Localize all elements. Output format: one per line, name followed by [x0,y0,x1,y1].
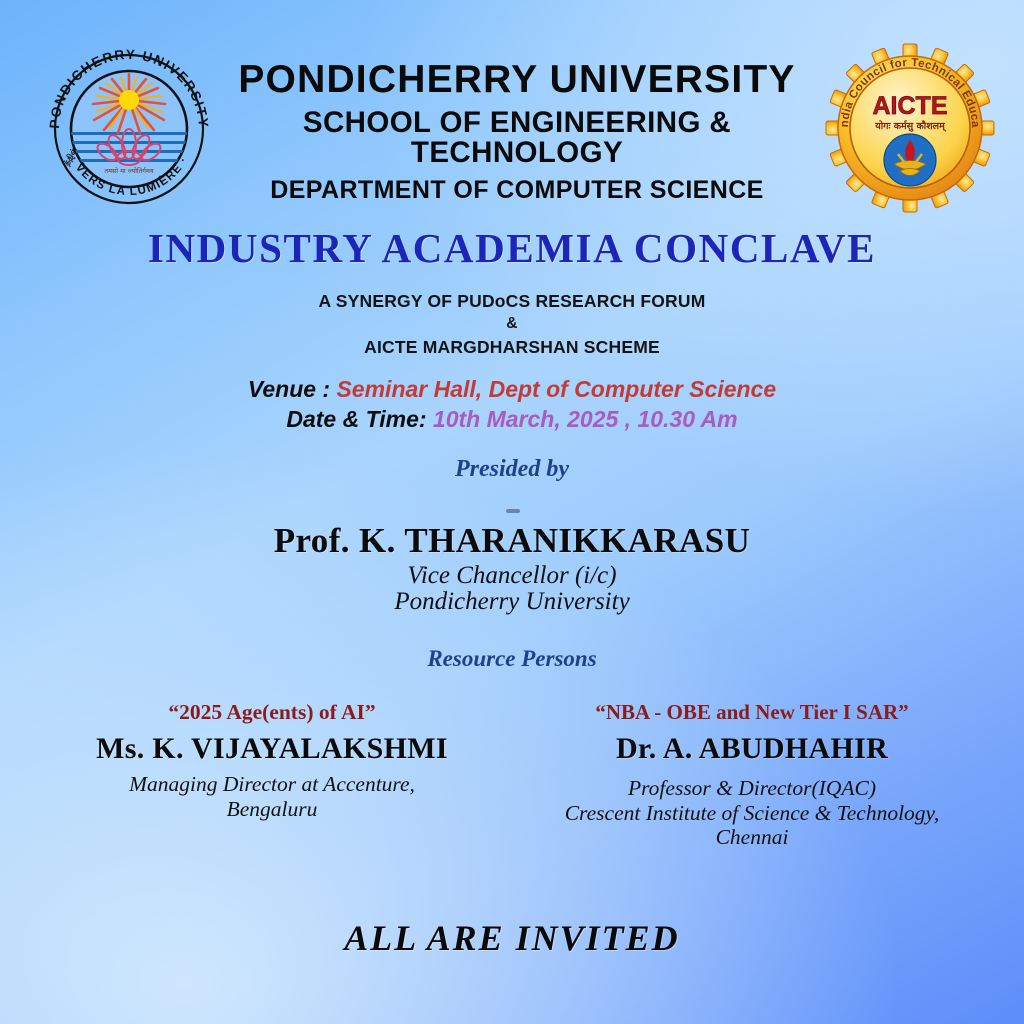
event-title: INDUSTRY ACADEMIA CONCLAVE [0,224,1024,272]
poster-header: तमसो मा ज्योतिर्गमय PONDICHERRY UNIVERSI… [0,0,1024,210]
resource-person-card: “2025 Age(ents) of AI” Ms. K. VIJAYALAKS… [32,700,512,850]
affiliation-line-3: Chennai [522,825,982,850]
talk-title: “NBA - OBE and New Tier I SAR” [522,700,982,725]
date-label: Date & Time: [286,406,433,432]
venue-label: Venue : [248,376,337,402]
affiliation-line-1: Professor & Director(IQAC) [522,776,982,801]
event-subtitle: A SYNERGY OF PUDoCS RESEARCH FORUM & AIC… [0,289,1024,359]
resource-person-affiliation: Managing Director at Accenture, Bengalur… [42,772,502,821]
presiding-officer-designation: Vice Chancellor (i/c) [0,563,1024,589]
resource-person-card: “NBA - OBE and New Tier I SAR” Dr. A. AB… [512,700,992,850]
pondicherry-university-logo: तमसो मा ज्योतिर्गमय PONDICHERRY UNIVERSI… [38,38,220,220]
presiding-officer-name: Prof. K. THARANIKKARASU [0,521,1024,561]
scan-artifact-mark [506,509,520,513]
synergy-line-1: A SYNERGY OF PUDoCS RESEARCH FORUM [0,289,1024,313]
school-name: SCHOOL OF ENGINEERING & TECHNOLOGY [210,108,824,167]
presiding-officer-affiliation: Pondicherry University [0,589,1024,615]
date-value: 10th March, 2025 , 10.30 Am [433,406,738,432]
svg-text:तमसो मा ज्योतिर्गमय: तमसो मा ज्योतिर्गमय [104,167,153,175]
resource-person-name: Dr. A. ABUDHAHIR [522,732,982,766]
department-name: DEPARTMENT OF COMPUTER SCIENCE [210,178,824,203]
presiding-officer-role: Vice Chancellor (i/c) Pondicherry Univer… [0,563,1024,616]
venue-row: Venue : Seminar Hall, Dept of Computer S… [0,374,1024,404]
invitation-footer: ALL ARE INVITED [0,917,1024,959]
svg-text:योगः कर्मसु कौशलम्: योगः कर्मसु कौशलम् [874,120,947,132]
aicte-logo: All India Council for Technical Educatio… [824,42,996,214]
presided-by-label: Presided by [0,456,1024,483]
affiliation-line-2: Bengaluru [42,797,502,822]
affiliation-line-1: Managing Director at Accenture, [42,772,502,797]
resource-person-name: Ms. K. VIJAYALAKSHMI [42,732,502,766]
date-row: Date & Time: 10th March, 2025 , 10.30 Am [0,404,1024,434]
affiliation-line-2: Crescent Institute of Science & Technolo… [522,801,982,826]
venue-value: Seminar Hall, Dept of Computer Science [336,376,776,402]
university-name: PONDICHERRY UNIVERSITY [210,60,824,99]
institution-heading: PONDICHERRY UNIVERSITY SCHOOL OF ENGINEE… [210,60,824,203]
synergy-ampersand: & [0,313,1024,334]
event-poster: तमसो मा ज्योतिर्गमय PONDICHERRY UNIVERSI… [0,0,1024,1024]
resource-persons-label: Resource Persons [0,646,1024,672]
resource-person-affiliation: Professor & Director(IQAC) Crescent Inst… [522,776,982,850]
resource-persons-list: “2025 Age(ents) of AI” Ms. K. VIJAYALAKS… [0,700,1024,850]
event-details: Venue : Seminar Hall, Dept of Computer S… [0,374,1024,435]
talk-title: “2025 Age(ents) of AI” [42,700,502,725]
svg-text:AICTE: AICTE [873,92,948,120]
synergy-line-2: AICTE MARGDHARSHAN SCHEME [0,335,1024,359]
